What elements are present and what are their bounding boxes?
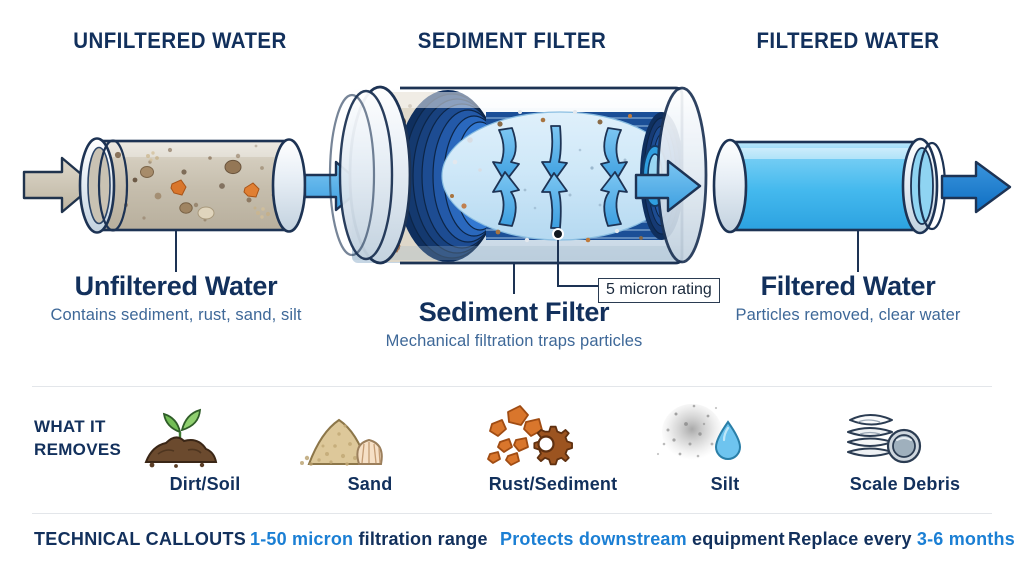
removes-item-label: Scale Debris [830, 474, 980, 495]
removes-item-dirt-soil: Dirt/Soil [130, 396, 280, 495]
removes-section: WHAT IT REMOVES Dirt/Soil [0, 392, 1024, 510]
removes-item-silt: Silt [650, 396, 800, 495]
dirt-soil-icon [130, 396, 230, 472]
removes-item-label: Rust/Sediment [478, 474, 628, 495]
removes-item-rust-sediment: Rust/Sediment [478, 396, 628, 495]
unfiltered-pipe-assembly [24, 139, 364, 233]
left-pipe-right-collar [273, 140, 305, 232]
filter-housing-assembly [316, 87, 706, 263]
filtered-pipe-assembly [714, 139, 1010, 233]
caption-subtitle: Particles removed, clear water [672, 305, 1024, 326]
section-header-filtered: FILTERED WATER [684, 28, 1011, 54]
outlet-arrow-icon [942, 162, 1010, 212]
caption-subtitle: Contains sediment, rust, sand, silt [0, 305, 352, 326]
scale-debris-icon [830, 396, 930, 472]
section-header-filter: SEDIMENT FILTER [345, 28, 680, 54]
callout-rest: Replace every [788, 529, 917, 549]
micron-anchor-dot [553, 229, 563, 239]
section-header-unfiltered: UNFILTERED WATER [13, 28, 348, 54]
caption-filtered: Filtered Water Particles removed, clear … [672, 272, 1024, 326]
caption-filter: Sediment Filter Mechanical filtration tr… [334, 298, 694, 352]
callouts-section-label: TECHNICAL CALLOUTS [34, 529, 246, 550]
callout-item-micron-range: 1-50 micron filtration range [250, 529, 488, 550]
infographic-canvas: UNFILTERED WATER SEDIMENT FILTER FILTERE… [0, 0, 1024, 572]
callout-item-protects: Protects downstream equipment [500, 529, 785, 550]
callout-highlight: 3-6 months [917, 529, 1015, 549]
caption-title: Filtered Water [672, 272, 1024, 302]
removes-item-label: Sand [295, 474, 445, 495]
callout-highlight: 1-50 micron [250, 529, 353, 549]
caption-subtitle: Mechanical filtration traps particles [334, 331, 694, 352]
callout-rest: equipment [687, 529, 785, 549]
callout-rest: filtration range [353, 529, 487, 549]
removes-label-line2: REMOVES [34, 440, 121, 459]
right-pipe-left-collar [714, 140, 746, 232]
callout-item-replace-interval: Replace every 3-6 months [788, 529, 1015, 550]
callout-highlight: Protects downstream [500, 529, 687, 549]
divider-top [32, 386, 992, 387]
divider-bottom [32, 513, 992, 514]
caption-unfiltered: Unfiltered Water Contains sediment, rust… [0, 272, 352, 326]
removes-item-scale-debris: Scale Debris [830, 396, 980, 495]
removes-item-label: Silt [650, 474, 800, 495]
removes-item-sand: Sand [295, 396, 445, 495]
micron-rating-callout: 5 micron rating [598, 278, 720, 303]
silt-icon [650, 396, 750, 472]
caption-title: Unfiltered Water [0, 272, 352, 302]
rust-sediment-icon [478, 396, 578, 472]
sand-icon [295, 396, 395, 472]
removes-item-label: Dirt/Soil [130, 474, 280, 495]
technical-callouts-section: TECHNICAL CALLOUTS 1-50 micron filtratio… [0, 522, 1024, 562]
removes-label-line1: WHAT IT [34, 417, 106, 436]
